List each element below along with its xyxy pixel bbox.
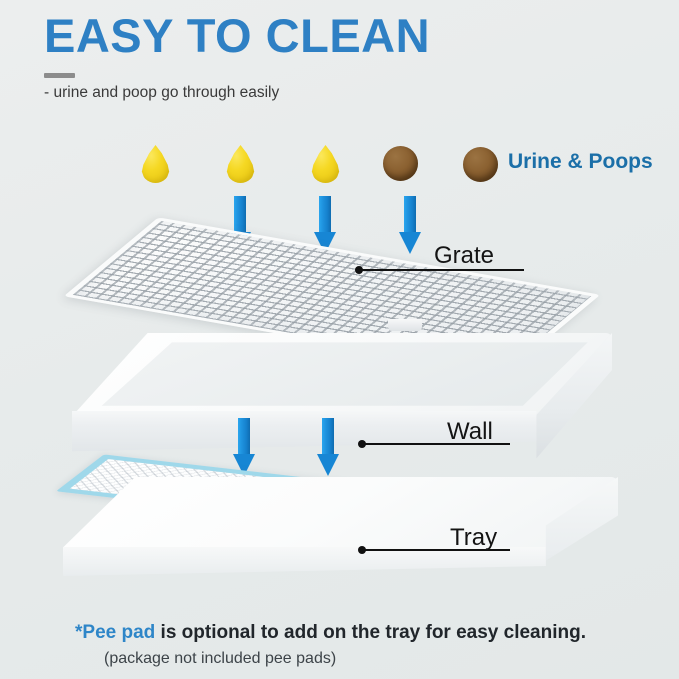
infographic-canvas: EASY TO CLEAN - urine and poop go throug… (0, 0, 679, 679)
footer-subnote: (package not included pee pads) (104, 650, 336, 668)
grate-tab (388, 319, 422, 331)
poop-circle-icon-2 (463, 147, 498, 182)
title-underline-rule (44, 73, 75, 78)
wall-part (72, 333, 612, 463)
arrow-head (317, 454, 339, 476)
footer-highlight: *Pee pad (75, 622, 155, 643)
urine-drop-icon-1 (141, 145, 170, 183)
arrow-stem (322, 418, 334, 456)
callout-label-tray: Tray (450, 524, 497, 552)
callout-label-wall: Wall (447, 418, 493, 446)
poop-circle-icon-1 (383, 146, 418, 181)
wall-front-face (72, 403, 612, 465)
footer-note: *Pee pad is optional to add on the tray … (75, 622, 586, 644)
arrow-stem (234, 196, 246, 234)
urine-drop-icon-3 (311, 145, 340, 183)
tray-part (63, 477, 618, 587)
arrow-stem (404, 196, 416, 234)
urine-drop-icon-2 (226, 145, 255, 183)
arrow-stem (319, 196, 331, 234)
arrow-stem (238, 418, 250, 456)
down-arrow-icon-4 (233, 418, 255, 476)
legend-label-urine-poops: Urine & Poops (508, 150, 653, 174)
drop-shape (311, 145, 340, 183)
down-arrow-icon-5 (317, 418, 339, 476)
page-title: EASY TO CLEAN (44, 8, 430, 63)
drop-shape (226, 145, 255, 183)
callout-label-grate: Grate (434, 242, 494, 270)
page-subtitle: - urine and poop go through easily (44, 84, 279, 102)
drop-shape (141, 145, 170, 183)
footer-main-text: is optional to add on the tray for easy … (155, 622, 586, 643)
